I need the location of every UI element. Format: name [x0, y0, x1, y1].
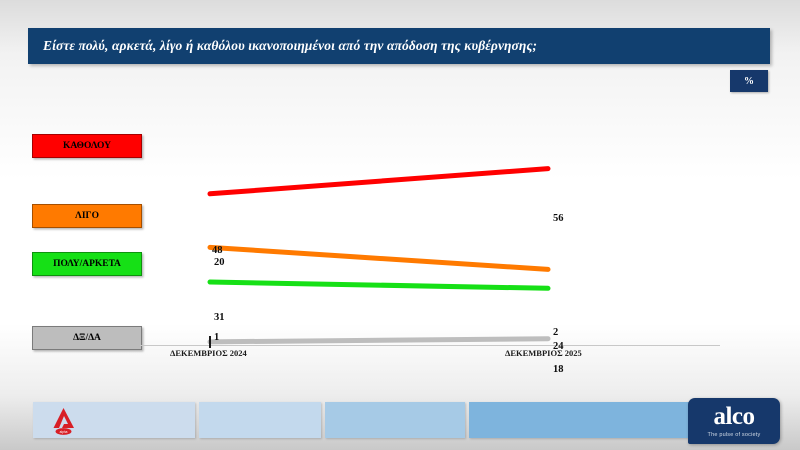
value-label-katholou-2024: 48 [212, 245, 223, 256]
percent-unit-badge: % [730, 70, 768, 92]
value-label-poly-2025: 18 [553, 364, 564, 375]
series-line-0 [210, 169, 548, 194]
alpha-tv-logo-icon: alpha [50, 406, 78, 436]
series-line-1 [210, 247, 548, 269]
page-title: Είστε πολύ, αρκετά, λίγο ή καθόλου ικανο… [28, 38, 537, 54]
alco-brand-logo: alco The pulse of society [688, 398, 780, 444]
line-chart: ΚΑΘΟΛΟΥ ΛΙΓΟ ΠΟΛΥ/ΑΡΚΕΤΑ ΔΞ/ΔΑ ΔΕΚΕΜΒΡΙΟ… [0, 96, 800, 371]
footer-block-2 [199, 402, 321, 438]
question-title-bar: Είστε πολύ, αρκετά, λίγο ή καθόλου ικανο… [28, 28, 770, 64]
alco-brand-tagline: The pulse of society [708, 432, 761, 438]
value-label-dxda-2024: 1 [214, 332, 219, 343]
chart-plot-lines [0, 96, 800, 371]
footer-bar: alpha alco The pulse of society [0, 394, 800, 450]
value-label-poly-2024: 20 [214, 257, 225, 268]
value-label-ligo-2025: 24 [553, 341, 564, 352]
svg-text:alpha: alpha [60, 430, 68, 434]
x-axis-tick-2024 [209, 336, 211, 348]
footer-block-3 [325, 402, 465, 438]
x-axis-label-1: ΔΕΚΕΜΒΡΙΟΣ 2025 [505, 348, 582, 358]
series-line-3 [210, 339, 548, 342]
footer-block-4 [469, 402, 704, 438]
x-axis-line [140, 345, 720, 346]
value-label-dxda-2025: 2 [553, 327, 558, 338]
series-line-2 [210, 282, 548, 288]
x-axis-label-0: ΔΕΚΕΜΒΡΙΟΣ 2024 [170, 348, 247, 358]
value-label-ligo-2024: 31 [214, 312, 225, 323]
alco-brand-name: alco [713, 404, 754, 429]
value-label-katholou-2025: 56 [553, 213, 564, 224]
